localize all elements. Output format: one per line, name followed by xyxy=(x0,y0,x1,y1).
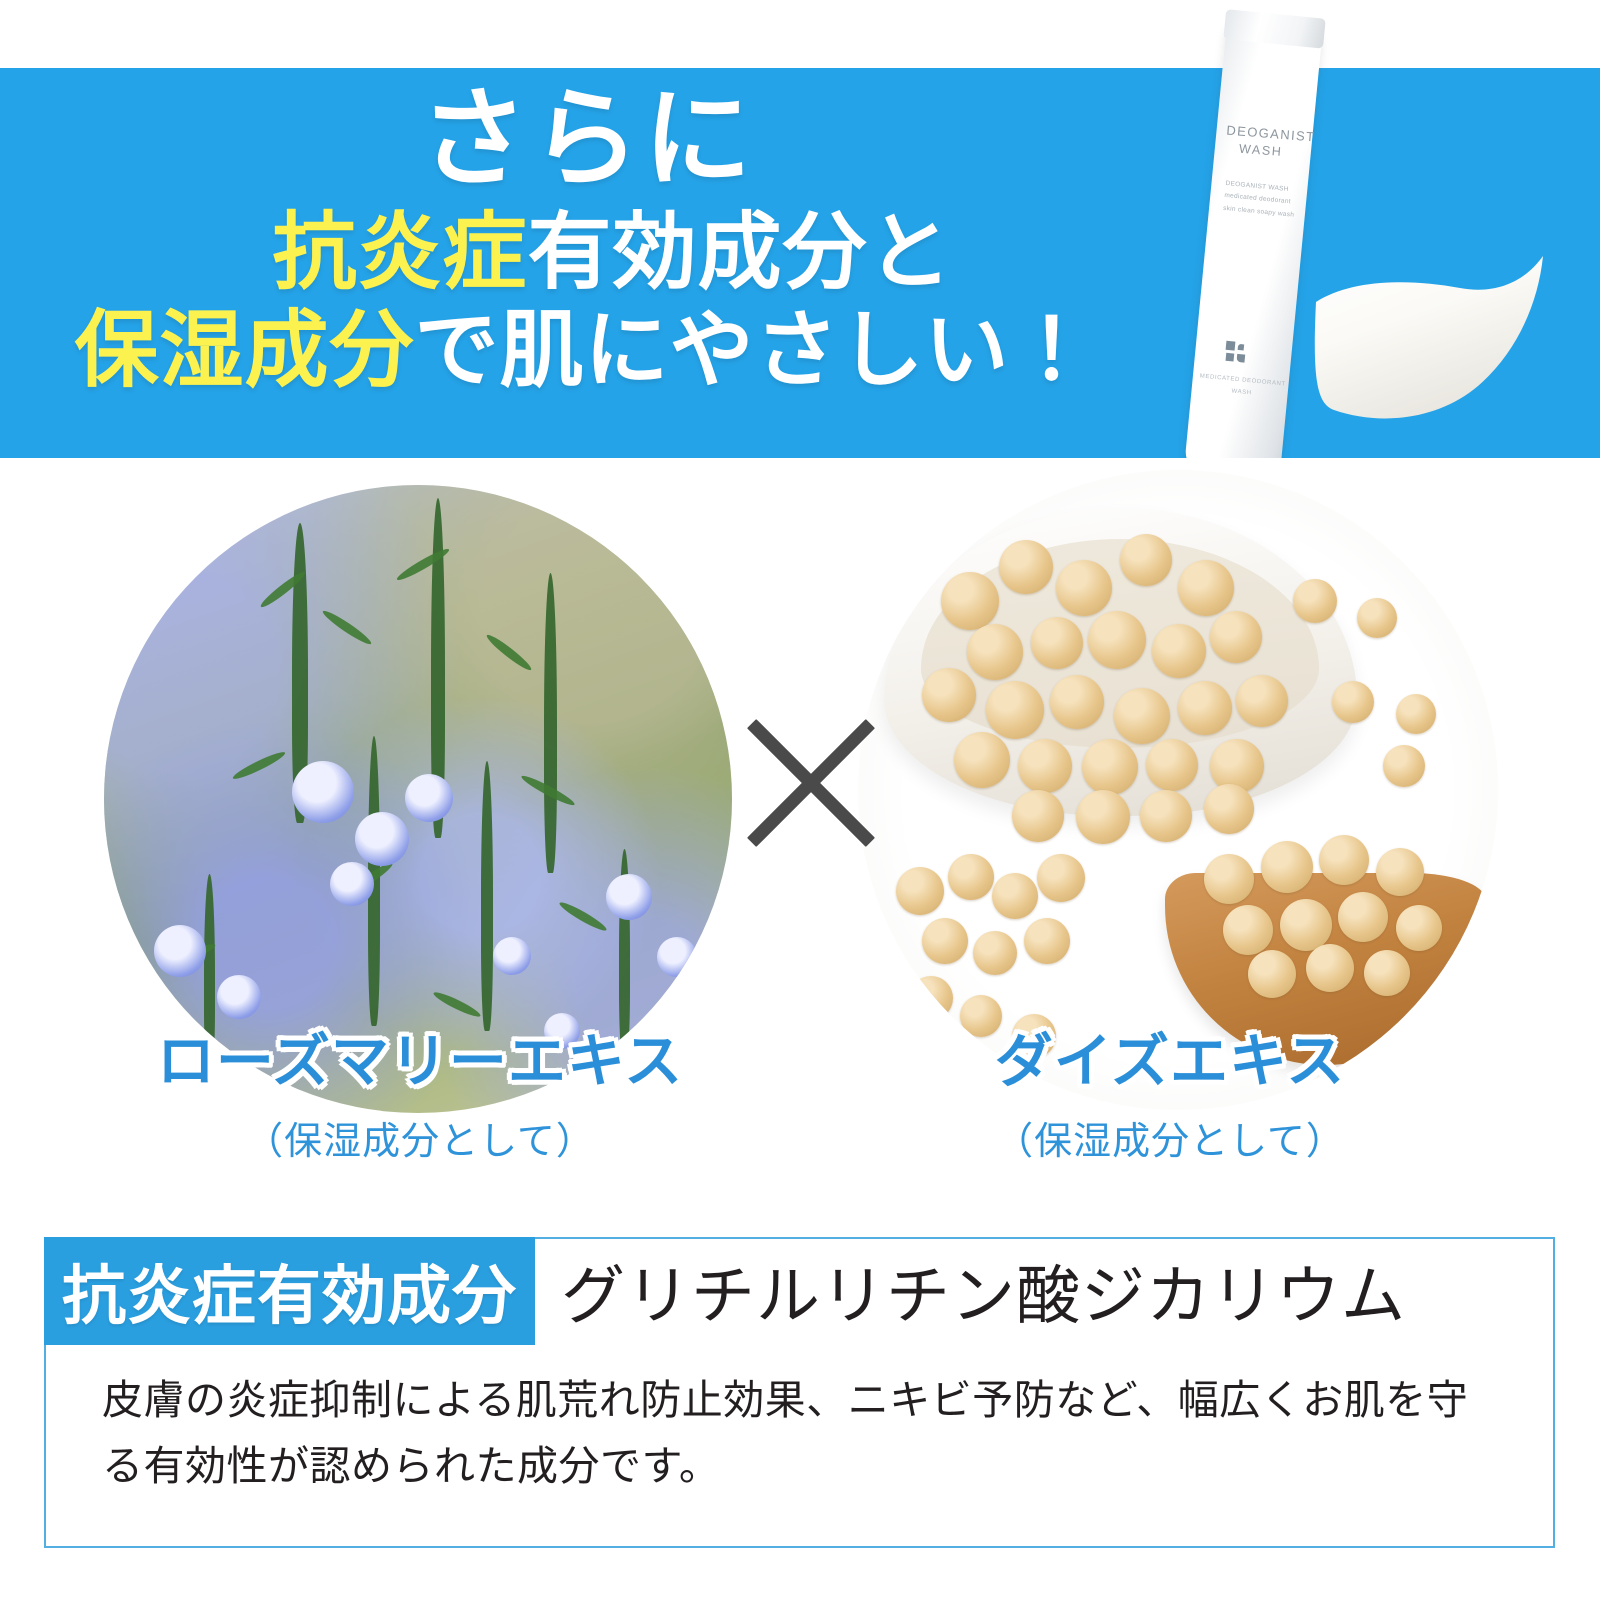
tube-crimp xyxy=(1223,9,1325,48)
hero-line-2-rest: 有効成分と xyxy=(528,205,953,299)
x-cross-icon xyxy=(726,698,896,868)
hero-line-3-highlight: 保湿成分 xyxy=(74,303,414,397)
ingredient-note-rosemary: （保湿成分として） xyxy=(70,1110,770,1165)
ingredient-name-rosemary: ローズマリーエキス xyxy=(70,1014,770,1098)
active-ingredient-description: 皮膚の炎症抑制による肌荒れ防止効果、ニキビ予防など、幅広くお肌を守る有効性が認め… xyxy=(102,1367,1492,1500)
hero-line-2: 抗炎症有効成分と xyxy=(272,205,952,301)
ingredient-name-soybean: ダイズエキス xyxy=(820,1014,1520,1098)
status-badge: 抗炎症有効成分 xyxy=(44,1237,535,1345)
ingredient-caption-soybean: ダイズエキス （保湿成分として） xyxy=(820,1014,1520,1165)
active-ingredient-box: 抗炎症有効成分 グリチルリチン酸ジカリウム 皮膚の炎症抑制による肌荒れ防止効果、… xyxy=(44,1237,1555,1548)
hero-text-block: さらに 抗炎症有効成分と 保湿成分で肌にやさしい！ xyxy=(0,68,1215,458)
hero-headline: さらに xyxy=(419,82,755,195)
hero-line-2-highlight: 抗炎症 xyxy=(272,205,527,299)
ingredient-note-soybean: （保湿成分として） xyxy=(820,1110,1520,1165)
hero-line-3-rest: で肌にやさしい！ xyxy=(415,303,1095,397)
active-ingredient-name: グリチルリチン酸ジカリウム xyxy=(535,1237,1406,1345)
ingredient-caption-rosemary: ローズマリーエキス （保湿成分として） xyxy=(70,1014,770,1165)
ingredients-section: ローズマリーエキス （保湿成分として） ダイズエキス （保湿成分として） xyxy=(0,458,1600,1218)
active-ingredient-header: 抗炎症有効成分 グリチルリチン酸ジカリウム xyxy=(44,1237,1406,1345)
hero-banner: さらに 抗炎症有効成分と 保湿成分で肌にやさしい！ xyxy=(0,68,1600,458)
hero-line-3: 保湿成分で肌にやさしい！ xyxy=(74,303,1094,399)
